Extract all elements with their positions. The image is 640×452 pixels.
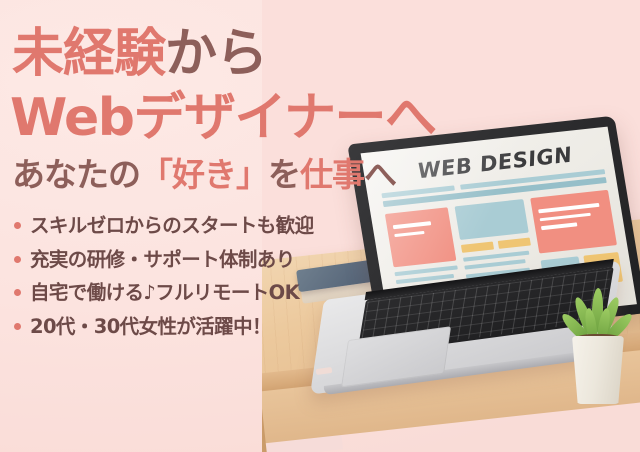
- list-item: 自宅で働ける♪フルリモートOK: [14, 283, 374, 303]
- headline-line-3-d: 仕事: [300, 155, 364, 194]
- headline-line-3: あなたの「好き」を仕事へ: [12, 158, 396, 191]
- list-item-label: 20代・30代女性が活躍中！: [30, 317, 271, 337]
- mockup-chip: [498, 237, 531, 248]
- headline-line-3-e: へ: [364, 155, 396, 194]
- headline-line-1-brown: から: [165, 24, 267, 84]
- headline-line-3-b: 「好き」: [140, 155, 268, 194]
- headline-line-1-red: 未経験: [12, 24, 165, 84]
- mockup-card-salmon: [530, 190, 617, 254]
- potted-plant: [552, 288, 640, 408]
- mockup-card-line: [541, 222, 578, 229]
- headline-line-3-a: あなたの: [12, 155, 140, 194]
- mockup-card-line: [538, 203, 599, 213]
- list-item: スキルゼロからのスタートも歓迎: [14, 216, 374, 236]
- headline-line-1: 未経験から: [12, 28, 267, 80]
- bullet-dot-icon: [14, 256, 21, 263]
- headline-line-3-c: を: [268, 155, 300, 194]
- job-ad-banner: WEB DESIGN: [0, 0, 640, 452]
- ad-copy: 未経験から Webデザイナーへ あなたの「好き」を仕事へ スキルゼロからのスター…: [0, 0, 420, 452]
- plant-pot: [572, 336, 624, 404]
- bullet-dot-icon: [14, 323, 21, 330]
- mockup-card-line: [540, 212, 592, 221]
- list-item: 20代・30代女性が活躍中！: [14, 317, 374, 337]
- list-item-label: 自宅で働ける♪フルリモートOK: [30, 283, 299, 303]
- bullet-dot-icon: [14, 222, 21, 229]
- list-item-label: 充実の研修・サポート体制あり: [30, 250, 295, 270]
- mockup-chip: [461, 241, 494, 252]
- bullet-dot-icon: [14, 289, 21, 296]
- benefit-list: スキルゼロからのスタートも歓迎 充実の研修・サポート体制あり 自宅で働ける♪フル…: [14, 216, 374, 350]
- list-item: 充実の研修・サポート体制あり: [14, 250, 374, 270]
- headline-line-2: Webデザイナーへ: [10, 92, 435, 144]
- list-item-label: スキルゼロからのスタートも歓迎: [30, 216, 314, 236]
- mockup-image-block: [455, 199, 529, 240]
